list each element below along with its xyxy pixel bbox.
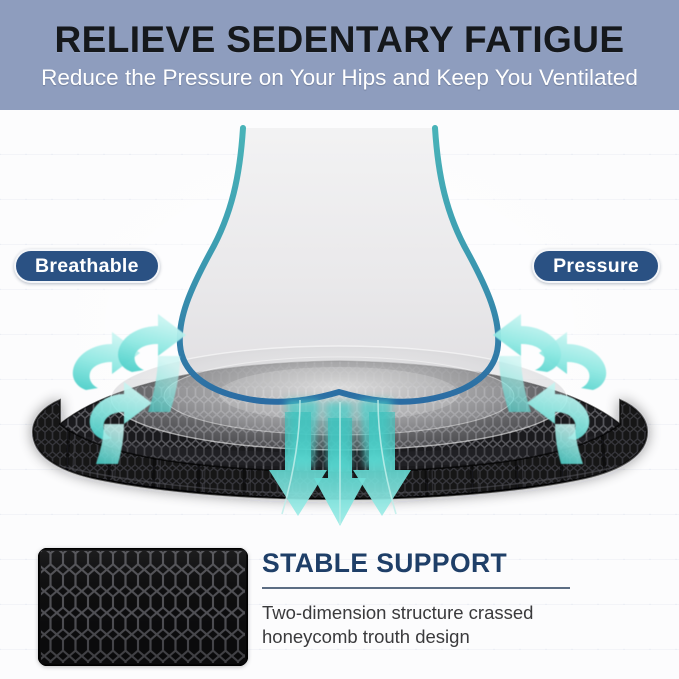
- badge-breathable[interactable]: Breathable: [14, 249, 160, 283]
- page-title: RELIEVE SEDENTARY FATIGUE: [55, 21, 625, 59]
- info-description-line-2: honeycomb trouth design: [262, 625, 662, 650]
- badge-pressure[interactable]: Pressure: [532, 249, 660, 283]
- info-description-line-1: Two-dimension structure crassed: [262, 601, 662, 626]
- badge-breathable-label: Breathable: [35, 255, 139, 278]
- infographic-page: RELIEVE SEDENTARY FATIGUE Reduce the Pre…: [0, 0, 679, 679]
- badge-pressure-label: Pressure: [553, 255, 639, 278]
- info-divider: [262, 587, 570, 589]
- page-subtitle: Reduce the Pressure on Your Hips and Kee…: [41, 66, 638, 90]
- pressure-arrows-down: [269, 400, 411, 526]
- info-description: Two-dimension structure crassed honeycom…: [262, 601, 662, 650]
- honeycomb-texture-swatch: [38, 548, 248, 666]
- info-title: STABLE SUPPORT: [262, 550, 662, 578]
- header-banner: RELIEVE SEDENTARY FATIGUE Reduce the Pre…: [0, 0, 679, 110]
- info-block: STABLE SUPPORT Two-dimension structure c…: [262, 550, 662, 650]
- honeycomb-swatch-graphic: [38, 548, 248, 666]
